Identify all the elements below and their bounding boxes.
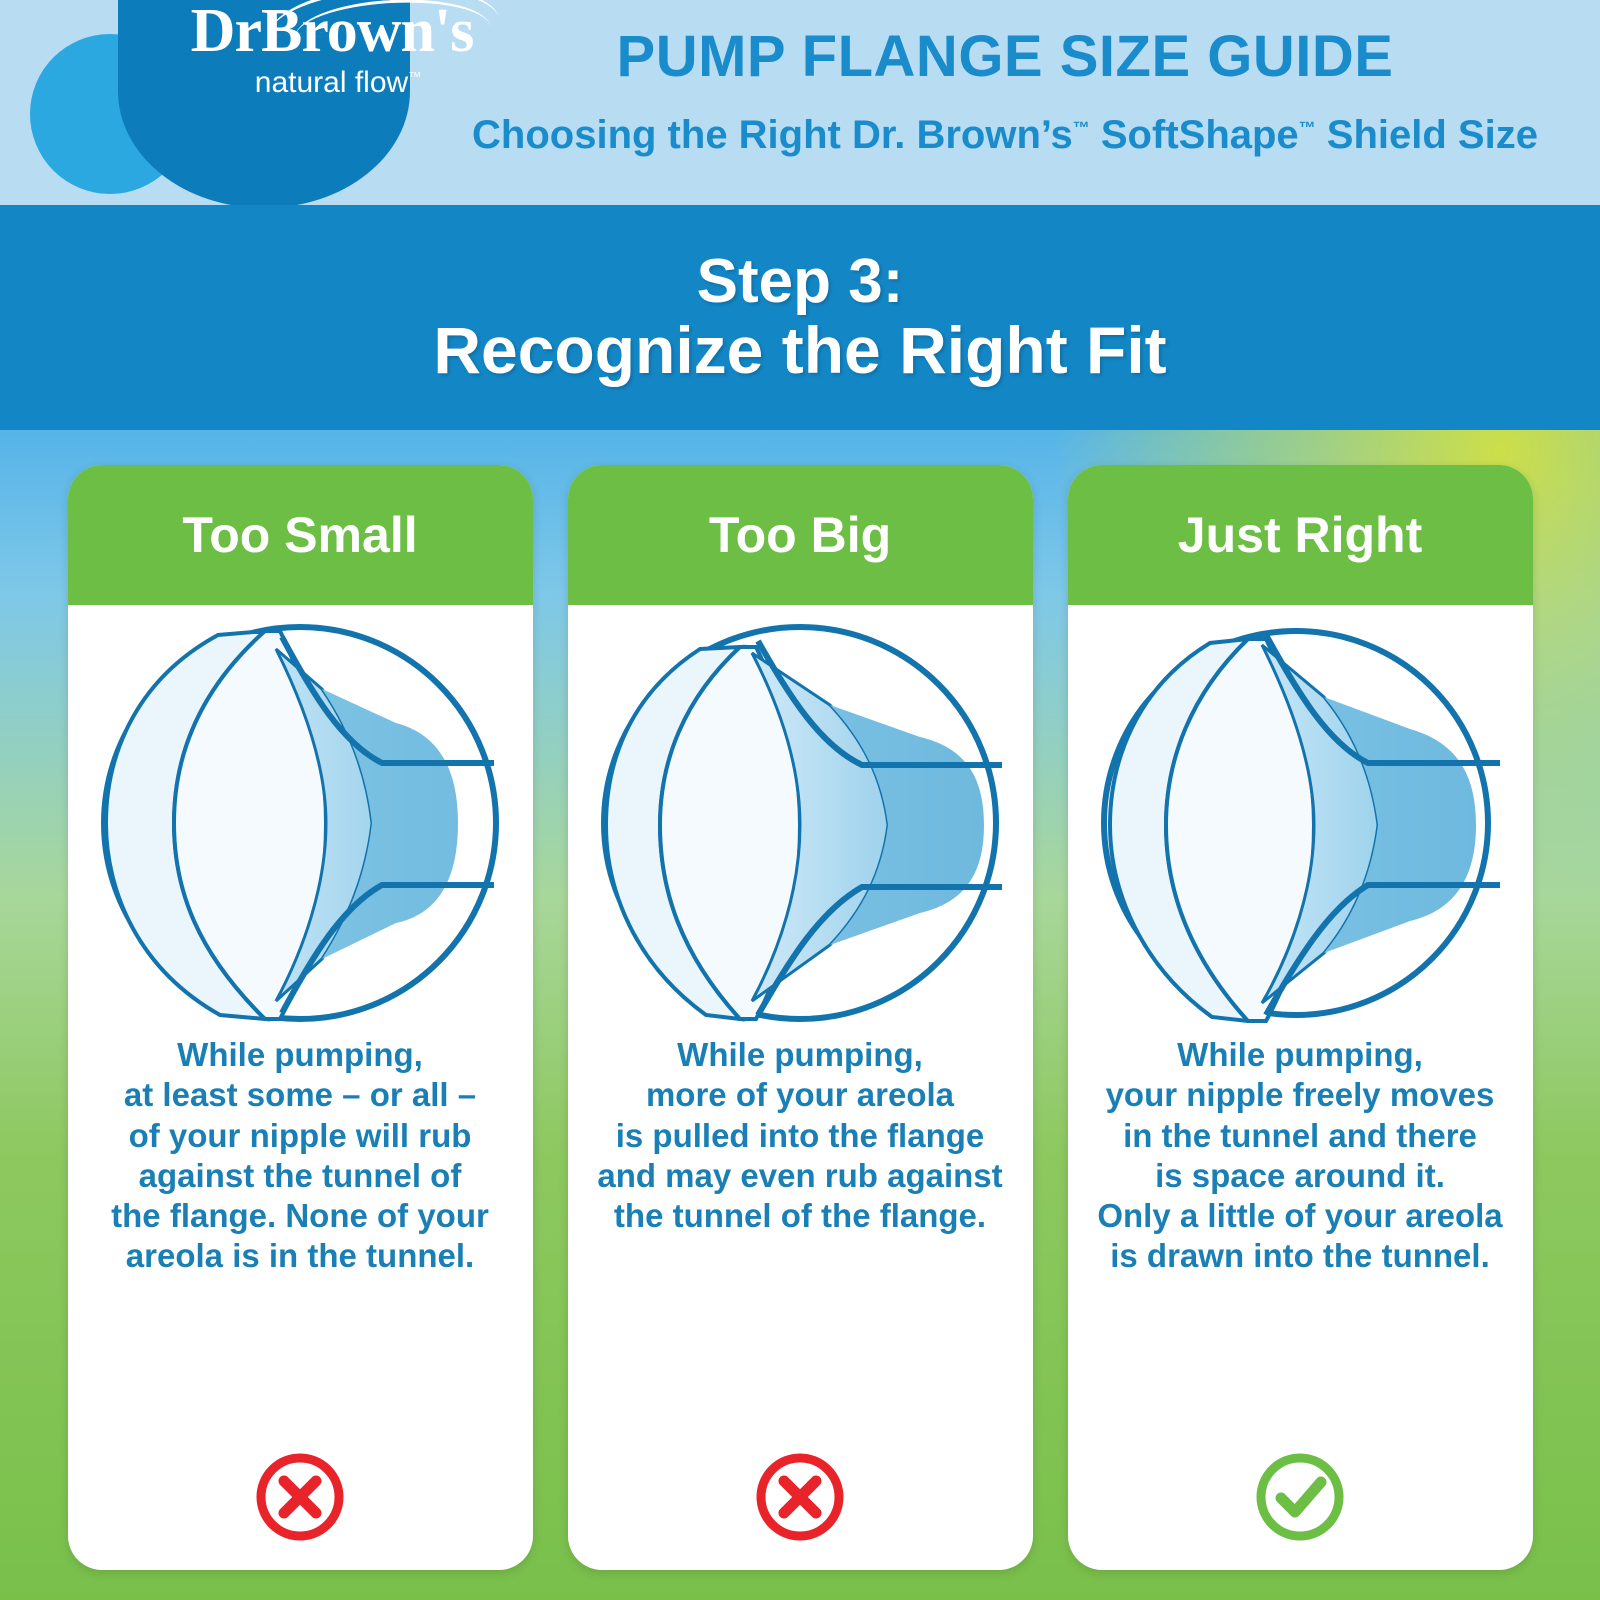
subtitle-part-1: Choosing the Right Dr. Brown’s — [472, 113, 1073, 157]
desc-line: Only a little of your areola — [1097, 1196, 1502, 1236]
card-title: Too Big — [709, 510, 891, 560]
card-description-too-big: While pumping, more of your areola is pu… — [597, 1035, 1002, 1444]
circle-x-icon — [753, 1450, 847, 1544]
desc-line: the tunnel of the flange. — [597, 1196, 1002, 1236]
fit-card-too-big: Too Big — [568, 465, 1033, 1570]
circle-check-icon — [1253, 1450, 1347, 1544]
card-body-just-right: While pumping, your nipple freely moves … — [1068, 605, 1533, 1570]
circle-x-icon — [253, 1450, 347, 1544]
flange-fit-diagram-too-small — [90, 623, 510, 1023]
desc-line: is pulled into the flange — [597, 1116, 1002, 1156]
desc-line: the flange. None of your — [111, 1196, 489, 1236]
desc-line: areola is in the tunnel. — [111, 1236, 489, 1276]
infographic-page: DrBrown's natural flow™ PUMP FLANGE SIZE… — [0, 0, 1600, 1600]
page-title: PUMP FLANGE SIZE GUIDE — [420, 28, 1590, 86]
fit-card-too-small: Too Small — [68, 465, 533, 1570]
desc-line: While pumping, — [1097, 1035, 1502, 1075]
desc-line: more of your areola — [597, 1075, 1002, 1115]
card-header-too-big: Too Big — [568, 465, 1033, 605]
subtitle-tm-1: ™ — [1073, 119, 1090, 138]
desc-line: of your nipple will rub — [111, 1116, 489, 1156]
subtitle-part-3: Shield Size — [1316, 113, 1538, 157]
desc-line: is space around it. — [1097, 1156, 1502, 1196]
desc-line: at least some – or all – — [111, 1075, 489, 1115]
subtitle-tm-2: ™ — [1299, 119, 1316, 138]
card-body-too-big: While pumping, more of your areola is pu… — [568, 605, 1033, 1570]
header-band: DrBrown's natural flow™ PUMP FLANGE SIZE… — [0, 0, 1600, 205]
card-description-just-right: While pumping, your nipple freely moves … — [1097, 1035, 1502, 1444]
desc-line: is drawn into the tunnel. — [1097, 1236, 1502, 1276]
step-number-label: Step 3: — [697, 249, 904, 314]
card-description-too-small: While pumping, at least some – or all – … — [111, 1035, 489, 1444]
subtitle-part-2: SoftShape — [1090, 113, 1299, 157]
fit-card-just-right: Just Right — [1068, 465, 1533, 1570]
desc-line: While pumping, — [111, 1035, 489, 1075]
card-body-too-small: While pumping, at least some – or all – … — [68, 605, 533, 1570]
flange-fit-diagram-too-big — [590, 623, 1010, 1023]
brand-logo: DrBrown's natural flow™ — [118, 0, 410, 205]
card-title: Just Right — [1178, 510, 1422, 560]
desc-line: While pumping, — [597, 1035, 1002, 1075]
desc-line: your nipple freely moves — [1097, 1075, 1502, 1115]
fit-comparison-cards: Too Small — [0, 465, 1600, 1570]
card-title: Too Small — [182, 510, 417, 560]
step-heading: Recognize the Right Fit — [433, 314, 1166, 387]
desc-line: in the tunnel and there — [1097, 1116, 1502, 1156]
logo-tagline-text: natural flow — [255, 66, 408, 99]
desc-line: and may even rub against — [597, 1156, 1002, 1196]
card-header-just-right: Just Right — [1068, 465, 1533, 605]
flange-fit-diagram-just-right — [1090, 623, 1510, 1023]
desc-line: against the tunnel of — [111, 1156, 489, 1196]
card-header-too-small: Too Small — [68, 465, 533, 605]
step-banner: Step 3: Recognize the Right Fit — [0, 205, 1600, 430]
page-subtitle: Choosing the Right Dr. Brown’s™ SoftShap… — [420, 115, 1590, 155]
